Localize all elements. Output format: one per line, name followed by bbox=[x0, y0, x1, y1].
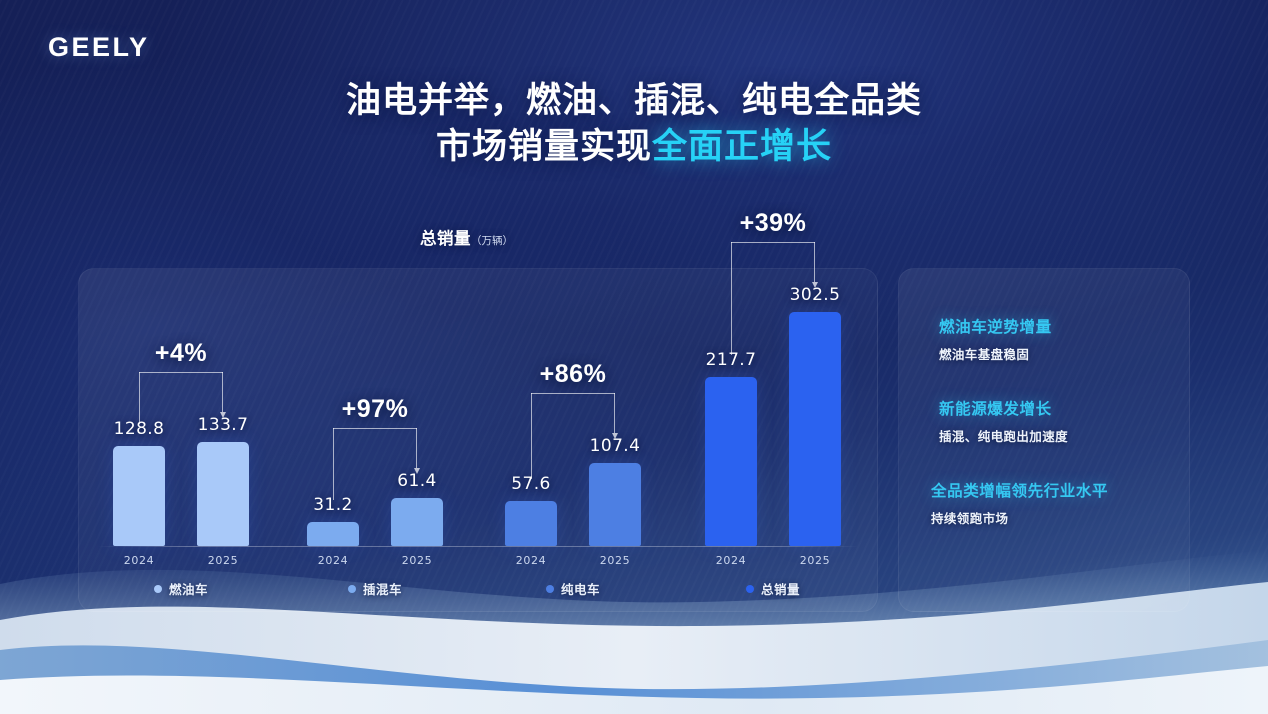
page-title: 油电并举，燃油、插混、纯电全品类 市场销量实现全面正增长 bbox=[0, 78, 1268, 169]
insight-item-0: 燃油车逆势增量 燃油车基盘稳固 bbox=[939, 315, 1171, 363]
chart-subtitle-unit: （万辆） bbox=[471, 235, 513, 247]
bar-group: 128.8133.7+4%20242025燃油车 bbox=[97, 269, 265, 611]
growth-bracket-right bbox=[222, 372, 223, 412]
legend-item-总销量[interactable]: 总销量 bbox=[689, 579, 857, 598]
growth-annotation: +86% bbox=[531, 393, 615, 394]
bar-总销量-2025[interactable]: 302.5 bbox=[789, 312, 841, 546]
geely-logo: GEELY bbox=[48, 32, 150, 63]
x-axis-label-2024: 2024 bbox=[113, 554, 165, 567]
bar-燃油车-2024[interactable]: 128.8 bbox=[113, 446, 165, 546]
bar-插混车-2025[interactable]: 61.4 bbox=[391, 498, 443, 546]
bar-value-label: 61.4 bbox=[397, 471, 436, 491]
x-axis-label-2024: 2024 bbox=[505, 554, 557, 567]
growth-percent-label: +39% bbox=[740, 209, 807, 238]
growth-bracket-right bbox=[614, 393, 615, 433]
growth-bracket-left bbox=[731, 242, 732, 356]
bar-value-label: 302.5 bbox=[790, 285, 841, 305]
growth-annotation: +97% bbox=[333, 428, 417, 429]
growth-percent-label: +4% bbox=[155, 339, 207, 368]
insight-item-1: 新能源爆发增长 插混、纯电跑出加速度 bbox=[939, 397, 1171, 445]
legend-label: 总销量 bbox=[761, 579, 800, 598]
x-axis-label-2024: 2024 bbox=[705, 554, 757, 567]
insight-heading: 新能源爆发增长 bbox=[939, 397, 1171, 419]
bar-value-label: 133.7 bbox=[198, 415, 249, 435]
x-axis-label-2025: 2025 bbox=[589, 554, 641, 567]
bar-燃油车-2025[interactable]: 133.7 bbox=[197, 442, 249, 546]
chart-subtitle-text: 总销量 bbox=[420, 230, 471, 248]
growth-bracket-left bbox=[333, 428, 334, 499]
legend-item-插混车[interactable]: 插混车 bbox=[291, 579, 459, 598]
title-line-2: 市场销量实现全面正增长 bbox=[0, 124, 1268, 170]
legend-label: 纯电车 bbox=[561, 579, 600, 598]
growth-annotation: +39% bbox=[731, 242, 815, 243]
legend-dot-icon bbox=[746, 585, 754, 593]
bar-group-bars: 31.261.4+97% bbox=[291, 269, 459, 546]
bar-group-bars: 57.6107.4+86% bbox=[489, 269, 657, 546]
bar-纯电车-2024[interactable]: 57.6 bbox=[505, 501, 557, 546]
insight-item-2: 全品类增幅领先行业水平 持续领跑市场 bbox=[931, 479, 1171, 527]
bar-group-bars: 128.8133.7+4% bbox=[97, 269, 265, 546]
slide-canvas: GEELY 油电并举，燃油、插混、纯电全品类 市场销量实现全面正增长 总销量（万… bbox=[0, 0, 1268, 714]
insight-card: 燃油车逆势增量 燃油车基盘稳固 新能源爆发增长 插混、纯电跑出加速度 全品类增幅… bbox=[898, 268, 1190, 612]
insight-heading: 燃油车逆势增量 bbox=[939, 315, 1171, 337]
x-axis-label-2025: 2025 bbox=[391, 554, 443, 567]
growth-arrow-icon bbox=[612, 433, 618, 439]
legend-label: 插混车 bbox=[363, 579, 402, 598]
growth-bracket-left bbox=[139, 372, 140, 424]
legend-item-纯电车[interactable]: 纯电车 bbox=[489, 579, 657, 598]
bar-group: 217.7302.5+39%20242025总销量 bbox=[689, 269, 857, 611]
insight-subtext: 燃油车基盘稳固 bbox=[939, 344, 1171, 363]
x-axis-label-2025: 2025 bbox=[197, 554, 249, 567]
bar-总销量-2024[interactable]: 217.7 bbox=[705, 377, 757, 546]
bar-group: 31.261.4+97%20242025插混车 bbox=[291, 269, 459, 611]
growth-bracket-top bbox=[731, 242, 815, 243]
growth-bracket-left bbox=[531, 393, 532, 480]
insight-subtext: 插混、纯电跑出加速度 bbox=[939, 426, 1171, 445]
growth-percent-label: +86% bbox=[540, 360, 607, 389]
growth-bracket-top bbox=[333, 428, 417, 429]
chart-baseline bbox=[97, 546, 859, 547]
bar-group: 57.6107.4+86%20242025纯电车 bbox=[489, 269, 657, 611]
growth-bracket-top bbox=[531, 393, 615, 394]
insight-heading: 全品类增幅领先行业水平 bbox=[931, 479, 1171, 501]
growth-annotation: +4% bbox=[139, 372, 223, 373]
legend-dot-icon bbox=[154, 585, 162, 593]
bar-插混车-2024[interactable]: 31.2 bbox=[307, 522, 359, 546]
x-axis-label-2024: 2024 bbox=[307, 554, 359, 567]
bar-纯电车-2025[interactable]: 107.4 bbox=[589, 463, 641, 546]
legend-label: 燃油车 bbox=[169, 579, 208, 598]
growth-arrow-icon bbox=[414, 468, 420, 474]
legend-dot-icon bbox=[348, 585, 356, 593]
growth-bracket-top bbox=[139, 372, 223, 373]
title-line-2-plain: 市场销量实现 bbox=[436, 127, 652, 166]
chart-card: 128.8133.7+4%20242025燃油车31.261.4+97%2024… bbox=[78, 268, 878, 612]
legend-item-燃油车[interactable]: 燃油车 bbox=[97, 579, 265, 598]
insight-subtext: 持续领跑市场 bbox=[931, 508, 1171, 527]
bar-chart-plot: 128.8133.7+4%20242025燃油车31.261.4+97%2024… bbox=[79, 269, 877, 611]
growth-arrow-icon bbox=[220, 412, 226, 418]
bar-value-label: 107.4 bbox=[590, 436, 641, 456]
growth-bracket-right bbox=[814, 242, 815, 282]
legend-dot-icon bbox=[546, 585, 554, 593]
growth-arrow-icon bbox=[812, 282, 818, 288]
x-axis-label-2025: 2025 bbox=[789, 554, 841, 567]
title-line-1: 油电并举，燃油、插混、纯电全品类 bbox=[0, 78, 1268, 124]
bar-group-bars: 217.7302.5+39% bbox=[689, 269, 857, 546]
growth-percent-label: +97% bbox=[342, 395, 409, 424]
chart-subtitle: 总销量（万辆） bbox=[420, 225, 513, 249]
title-line-2-highlight: 全面正增长 bbox=[652, 127, 832, 166]
growth-bracket-right bbox=[416, 428, 417, 468]
